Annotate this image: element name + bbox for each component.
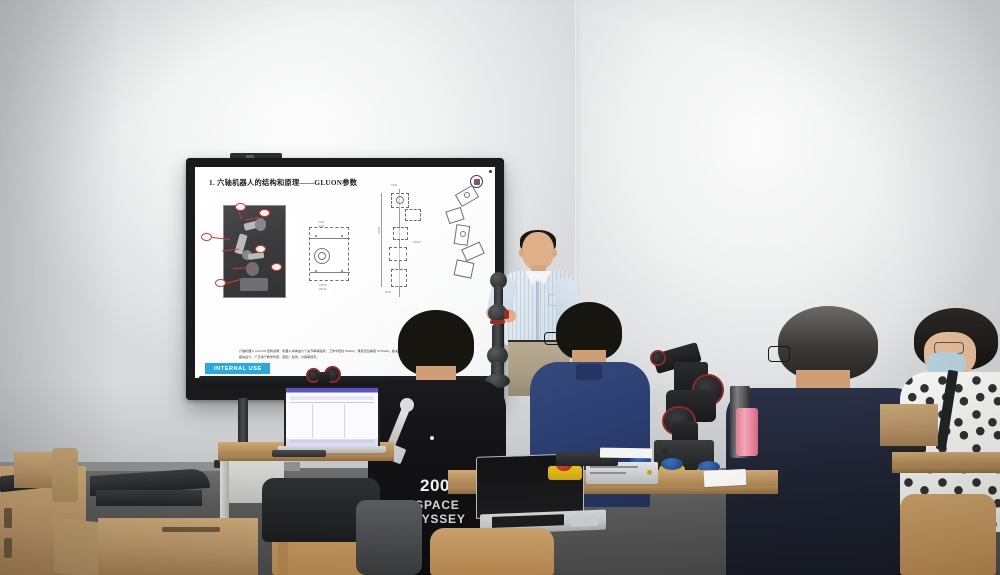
student-right-front-hair [778,306,878,380]
paper-sheet-1 [704,469,747,487]
chair-wood-center[interactable] [430,528,554,575]
bag-grey [356,500,422,575]
paper-sheet-2 [600,448,652,459]
chair-backrest-far-left[interactable] [52,448,78,502]
water-bottle-pink [736,408,758,456]
laptop-dell-left[interactable] [284,386,380,448]
suction-mount-1 [661,458,683,470]
emergency-stop-box[interactable] [548,466,582,480]
cardboard-box-right [880,404,938,446]
presenter-ear-left [519,249,524,257]
classroom-scene: 1. 六轴机器人的结构和原理——GLUON参数 [0,0,1000,575]
desk-right [892,452,1000,466]
dark-panel-base [96,490,202,506]
student-right-front-glasses-icon [768,346,790,362]
power-led-icon [489,170,492,173]
box-handle-slot-2 [4,538,12,558]
student-center-glasses-icon [544,332,562,345]
chair-wood-left-leg [278,540,288,575]
laptop-left-screen-content [286,388,378,446]
desk-right-edge [892,466,1000,473]
box-flap-left [54,518,100,575]
chair-wood-right[interactable] [900,494,996,575]
presenter-ear-right [552,249,557,257]
box-handle-slot-1 [4,508,12,528]
box-handle-slot-3 [162,527,220,532]
gimbal-camera-on-stand [306,366,346,388]
external-keyboard[interactable] [272,450,326,457]
